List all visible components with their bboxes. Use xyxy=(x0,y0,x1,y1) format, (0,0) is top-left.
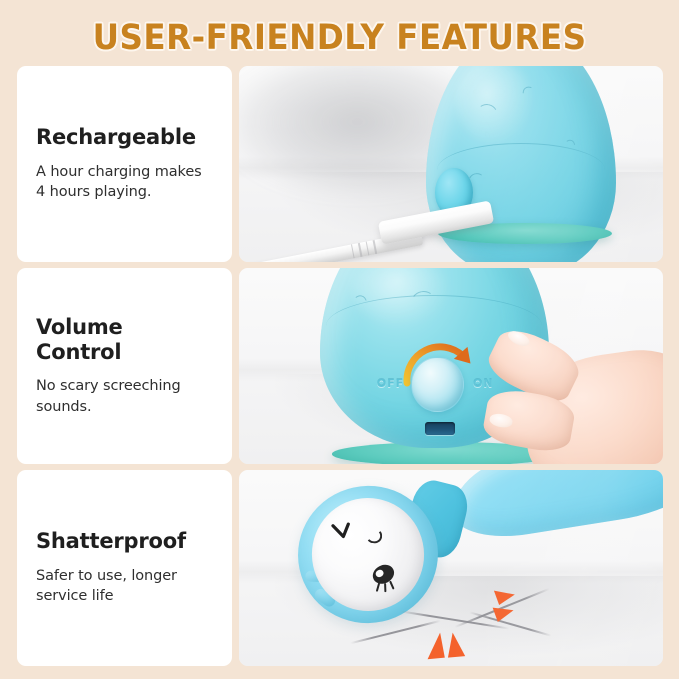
hand-icon xyxy=(476,335,663,464)
impact-mark-icon xyxy=(409,631,485,662)
feature-card-shatterproof: Shatterproof Safer to use, longer servic… xyxy=(17,470,232,666)
feature-card-rechargeable: Rechargeable A hour charging makes 4 hou… xyxy=(17,66,232,262)
feature-row-volume-control: Volume Control No scary screeching sound… xyxy=(17,268,663,464)
eyelash-icon xyxy=(389,581,394,590)
impact-mark-icon xyxy=(476,588,535,627)
cable-rib xyxy=(365,241,369,255)
cable-rib xyxy=(372,240,376,254)
eyebrow-icon xyxy=(330,520,356,542)
feature-image-volume-control: OFF ON xyxy=(239,268,663,464)
page-title: USER-FRIENDLY FEATURES xyxy=(93,18,587,58)
feature-grid: Rechargeable A hour charging makes 4 hou… xyxy=(17,66,663,666)
feature-image-shatterproof xyxy=(239,470,663,666)
feature-description-volume-control: No scary screeching sounds. xyxy=(36,376,213,417)
feature-description-shatterproof: Safer to use, longer service life xyxy=(36,566,213,607)
cable-rib xyxy=(358,243,362,257)
feature-title-volume-control: Volume Control xyxy=(36,315,213,365)
toy-highlight xyxy=(456,66,532,143)
volume-knob[interactable] xyxy=(411,357,464,412)
feature-card-volume-control: Volume Control No scary screeching sound… xyxy=(17,268,232,464)
feature-row-rechargeable: Rechargeable A hour charging makes 4 hou… xyxy=(17,66,663,262)
feature-title-rechargeable: Rechargeable xyxy=(36,125,213,150)
knob-label-off: OFF xyxy=(377,377,404,390)
cable-rib xyxy=(350,244,354,258)
feature-description-rechargeable: A hour charging makes 4 hours playing. xyxy=(36,162,213,203)
feature-image-rechargeable xyxy=(239,66,663,262)
usb-port-icon xyxy=(425,422,455,435)
page-title-bar: USER-FRIENDLY FEATURES xyxy=(0,18,679,58)
feature-row-shatterproof: Shatterproof Safer to use, longer servic… xyxy=(17,470,663,666)
feature-title-shatterproof: Shatterproof xyxy=(36,529,213,554)
cheek-arc-icon xyxy=(366,527,383,543)
finger-nail xyxy=(489,412,514,428)
eyelash-icon xyxy=(384,583,386,592)
feature-infographic-page: USER-FRIENDLY FEATURES Rechargeable A ho… xyxy=(0,0,679,679)
